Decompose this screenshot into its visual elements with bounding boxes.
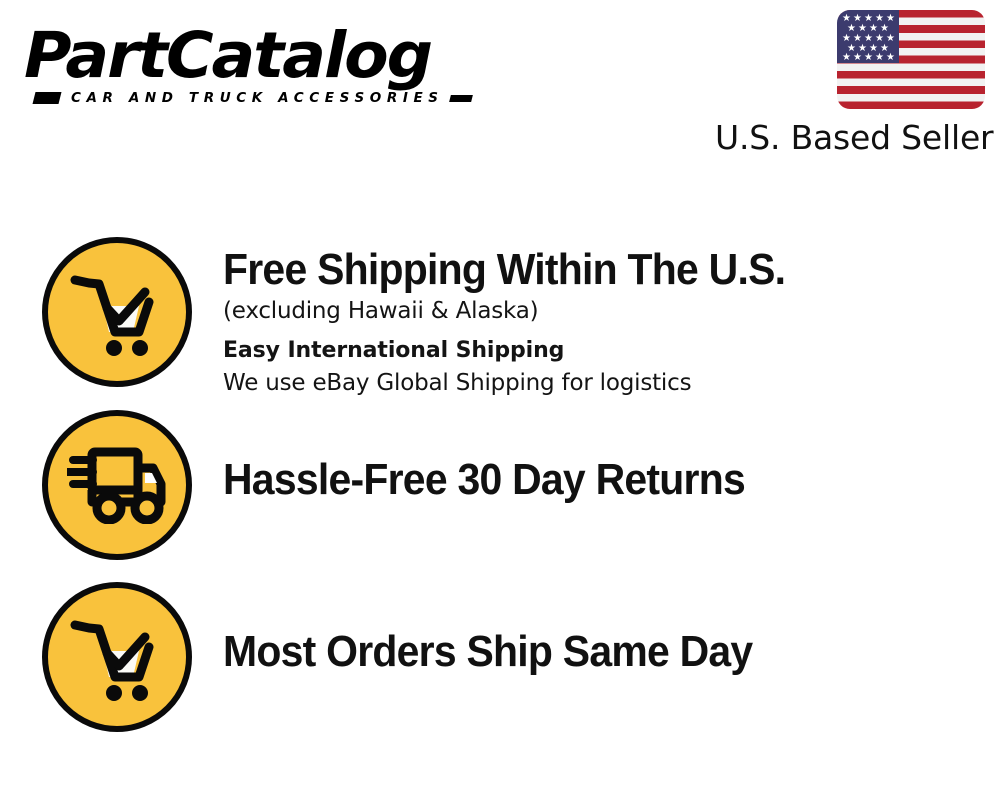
- seller-badge: ★ ★ ★ ★ ★ ★ ★ ★ ★ ★ ★ ★ ★ ★ ★ ★ ★ ★ ★ ★: [715, 10, 985, 158]
- brand-tagline-row: CAR AND TRUCK ACCESSORIES: [24, 90, 502, 106]
- us-flag-icon: ★ ★ ★ ★ ★ ★ ★ ★ ★ ★ ★ ★ ★ ★ ★ ★ ★ ★ ★ ★: [837, 10, 985, 109]
- benefit-row: Hassle-Free 30 Day Returns: [0, 410, 1000, 580]
- benefit-heading: Most Orders Ship Same Day: [223, 627, 946, 677]
- benefit-text: Free Shipping Within The U.S. (excluding…: [223, 237, 1000, 400]
- benefit-sub-strong: Easy International Shipping: [223, 334, 1000, 367]
- brand-logo[interactable]: PartCatalog CAR AND TRUCK ACCESSORIES: [24, 22, 494, 117]
- seller-label: U.S. Based Seller: [715, 118, 985, 158]
- brand-tagline: CAR AND TRUCK ACCESSORIES: [71, 90, 444, 106]
- benefit-row: Free Shipping Within The U.S. (excluding…: [0, 237, 1000, 407]
- tagline-rule-right-icon: [449, 95, 473, 102]
- benefit-heading: Hassle-Free 30 Day Returns: [223, 455, 946, 505]
- benefit-heading: Free Shipping Within The U.S.: [223, 245, 946, 295]
- benefit-text: Most Orders Ship Same Day: [223, 582, 1000, 677]
- banner-header: PartCatalog CAR AND TRUCK ACCESSORIES ★ …: [0, 0, 1000, 175]
- delivery-truck-icon: [42, 410, 192, 560]
- benefit-sub-detail: We use eBay Global Shipping for logistic…: [223, 367, 1000, 400]
- shopping-cart-check-icon: [42, 237, 192, 387]
- benefit-row: Most Orders Ship Same Day: [0, 582, 1000, 752]
- shopping-cart-check-icon: [42, 582, 192, 732]
- benefit-subnote: (excluding Hawaii & Alaska): [223, 295, 1000, 328]
- brand-wordmark: PartCatalog: [24, 22, 508, 90]
- tagline-rule-left-icon: [33, 92, 62, 104]
- flag-stars: ★ ★ ★ ★ ★ ★ ★ ★ ★ ★ ★ ★ ★ ★ ★ ★ ★ ★ ★ ★: [837, 10, 985, 109]
- benefit-text: Hassle-Free 30 Day Returns: [223, 410, 1000, 505]
